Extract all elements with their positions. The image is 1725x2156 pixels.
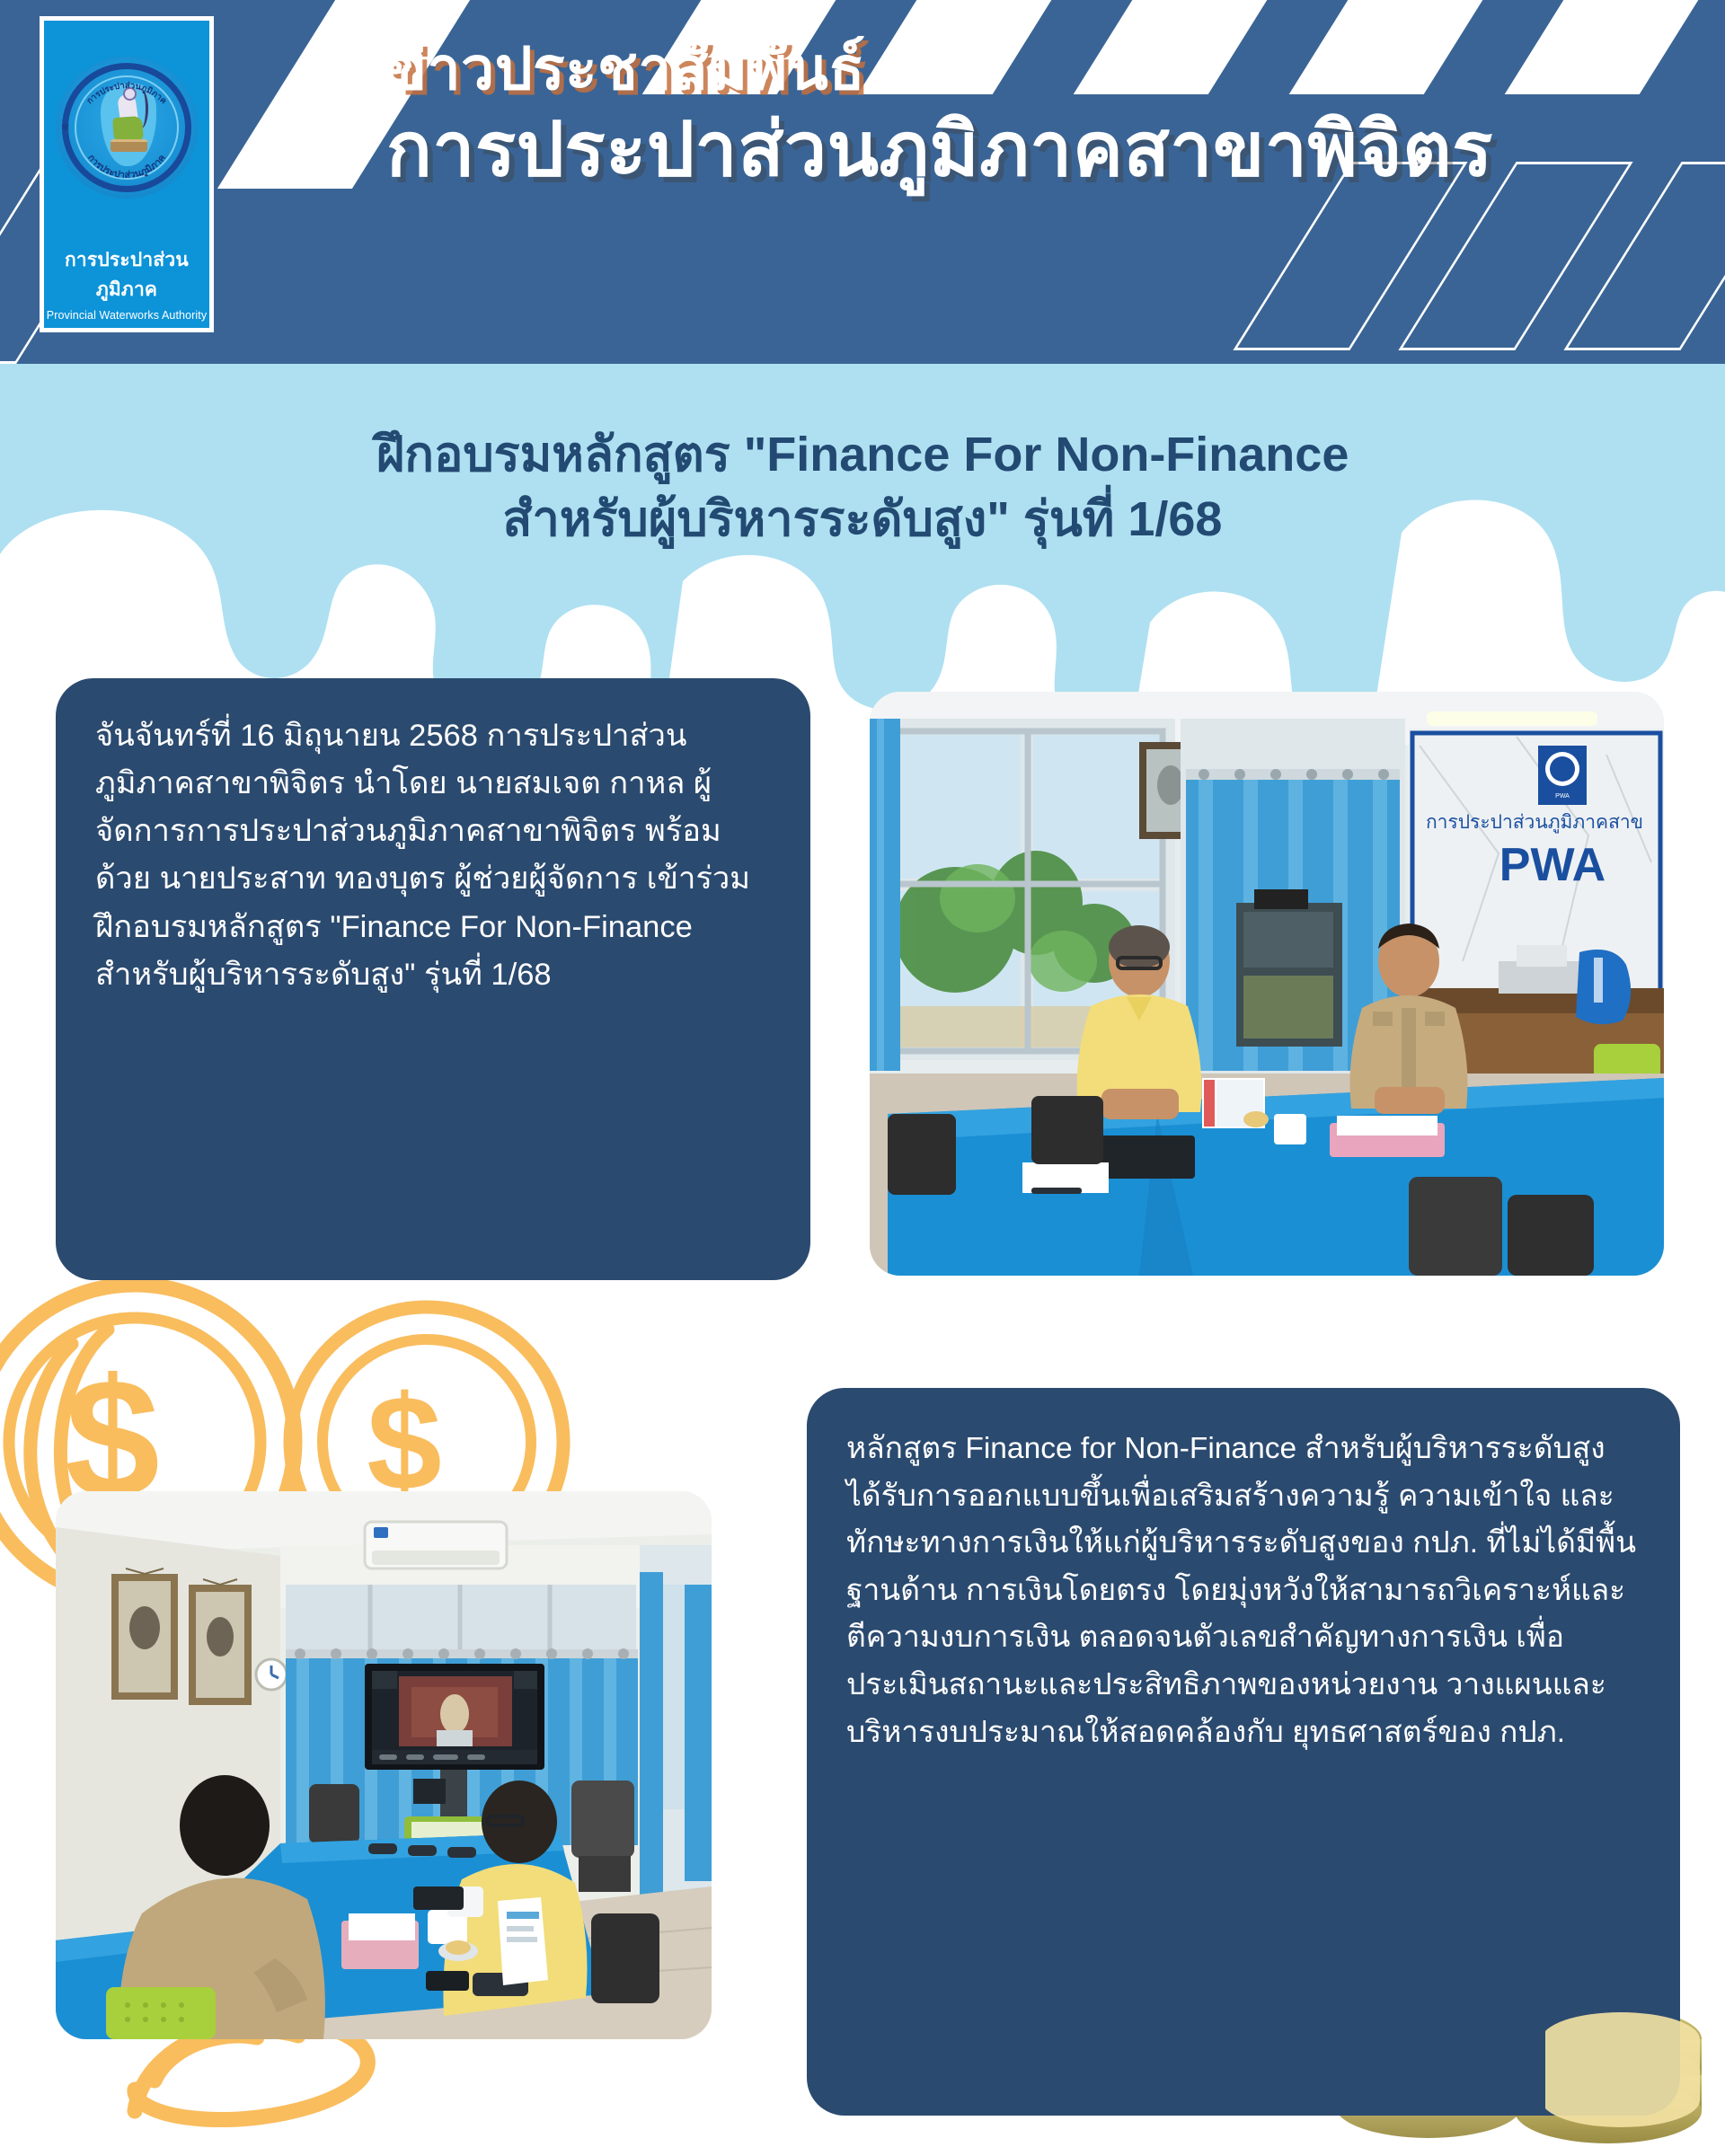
course-description-text: หลักสูตร Finance for Non-Finance สำหรับผ… bbox=[846, 1426, 1641, 1756]
event-summary-card: จันจันทร์ที่ 16 มิถุนายน 2568 การประปาส่… bbox=[56, 678, 810, 1280]
poster-root: การประปาส่วนภูมิภาค การประปาส่วนภูมิภาค … bbox=[0, 0, 1725, 2156]
svg-text:PWA: PWA bbox=[1555, 793, 1570, 800]
coin-stack-overflow-light bbox=[1545, 2003, 1725, 2156]
main-title: ฝึกอบรมหลักสูตร "Finance For Non-Finance… bbox=[144, 422, 1581, 552]
main-title-line1: ฝึกอบรมหลักสูตร "Finance For Non-Finance bbox=[144, 422, 1581, 487]
header-title-line2: การประปาส่วนภูมิภาคสาขาพิจิตร bbox=[386, 110, 1698, 189]
pwa-logo-plate: การประปาส่วนภูมิภาค การประปาส่วนภูมิภาค … bbox=[40, 16, 214, 332]
table-tent-card bbox=[498, 1897, 548, 1985]
emblem-arc-text: การประปาส่วนภูมิภาค การประปาส่วนภูมิภาค bbox=[56, 57, 198, 199]
emblem-seal-mark: ✾ bbox=[61, 123, 71, 133]
logo-name-thai: การประปาส่วนภูมิภาค bbox=[44, 245, 209, 305]
wall-sign-pwa: PWA bbox=[1499, 839, 1606, 891]
header-title-line1: ข่าวประชาสัมพันธ์ bbox=[386, 38, 1698, 100]
training-room-graphic bbox=[56, 1491, 712, 2039]
event-summary-text: จันจันทร์ที่ 16 มิถุนายน 2568 การประปาส่… bbox=[95, 712, 771, 999]
svg-text:การประปาส่วนภูมิภาค: การประปาส่วนภูมิภาค bbox=[85, 153, 168, 181]
main-title-line2: สำหรับผู้บริหารระดับสูง" รุ่นที่ 1/68 bbox=[144, 487, 1581, 552]
header-banner: การประปาส่วนภูมิภาค การประปาส่วนภูมิภาค … bbox=[0, 0, 1725, 364]
header-title-group: ข่าวประชาสัมพันธ์ การประปาส่วนภูมิภาคสาข… bbox=[386, 38, 1698, 189]
meeting-photo-graphic: PWA การประปาส่วนภูมิภาคสาข PWA bbox=[870, 692, 1664, 1276]
svg-text:การประปาส่วนภูมิภาค: การประปาส่วนภูมิภาค bbox=[84, 81, 168, 107]
pwa-emblem-icon: การประปาส่วนภูมิภาค การประปาส่วนภูมิภาค … bbox=[56, 57, 198, 199]
training-room-photo-screen bbox=[56, 1491, 712, 2039]
meeting-photo-two-officials: PWA การประปาส่วนภูมิภาคสาข PWA bbox=[870, 692, 1664, 1276]
logo-name-english: Provincial Waterworks Authority bbox=[47, 309, 207, 322]
wall-sign-thai: การประปาส่วนภูมิภาคสาข bbox=[1426, 812, 1643, 834]
